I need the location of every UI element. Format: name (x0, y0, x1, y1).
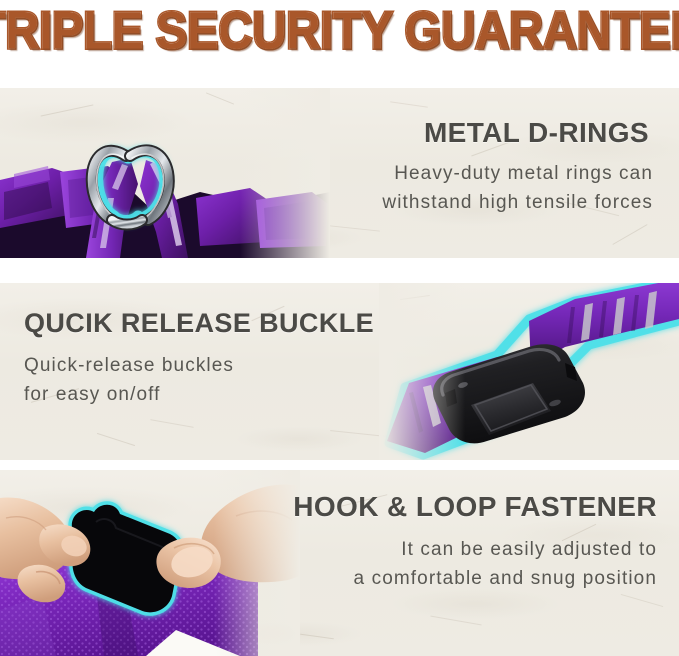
panel-metal-d-rings: METAL D-RINGS Heavy-duty metal rings can… (0, 88, 679, 258)
panel-1-body-line-2: withstand high tensile forces (382, 188, 653, 217)
image-quick-release-buckle (379, 283, 679, 460)
panel-3-body-line-2: a comfortable and snug position (293, 564, 657, 593)
image-metal-d-rings (0, 88, 330, 258)
header-banner: TRIPLE SECURITY GUARANTEE (0, 0, 679, 62)
image-hook-loop-fastener (0, 470, 300, 656)
page-title: TRIPLE SECURITY GUARANTEE (0, 0, 679, 61)
panel-3-text-block: HOOK & LOOP FASTENER It can be easily ad… (293, 492, 657, 594)
panel-divider-1 (0, 258, 679, 283)
panel-3-body-line-1: It can be easily adjusted to (293, 535, 657, 564)
panel-2-heading: QUCIK RELEASE BUCKLE (24, 309, 374, 339)
panel-1-body-line-1: Heavy-duty metal rings can (382, 159, 653, 188)
panel-divider-2 (0, 460, 679, 470)
panel-1-text-block: METAL D-RINGS Heavy-duty metal rings can… (382, 118, 653, 218)
panel-1-heading: METAL D-RINGS (382, 118, 649, 149)
panel-quick-release-buckle: QUCIK RELEASE BUCKLE Quick-release buckl… (0, 283, 679, 460)
panel-divider-top (0, 62, 679, 88)
panel-2-body-line-1: Quick-release buckles (24, 351, 374, 380)
panel-3-heading: HOOK & LOOP FASTENER (293, 492, 657, 523)
panel-hook-loop-fastener: HOOK & LOOP FASTENER It can be easily ad… (0, 470, 679, 656)
panel-2-body-line-2: for easy on/off (24, 380, 374, 409)
panel-2-text-block: QUCIK RELEASE BUCKLE Quick-release buckl… (24, 309, 374, 410)
infographic-page: TRIPLE SECURITY GUARANTEE (0, 0, 679, 656)
